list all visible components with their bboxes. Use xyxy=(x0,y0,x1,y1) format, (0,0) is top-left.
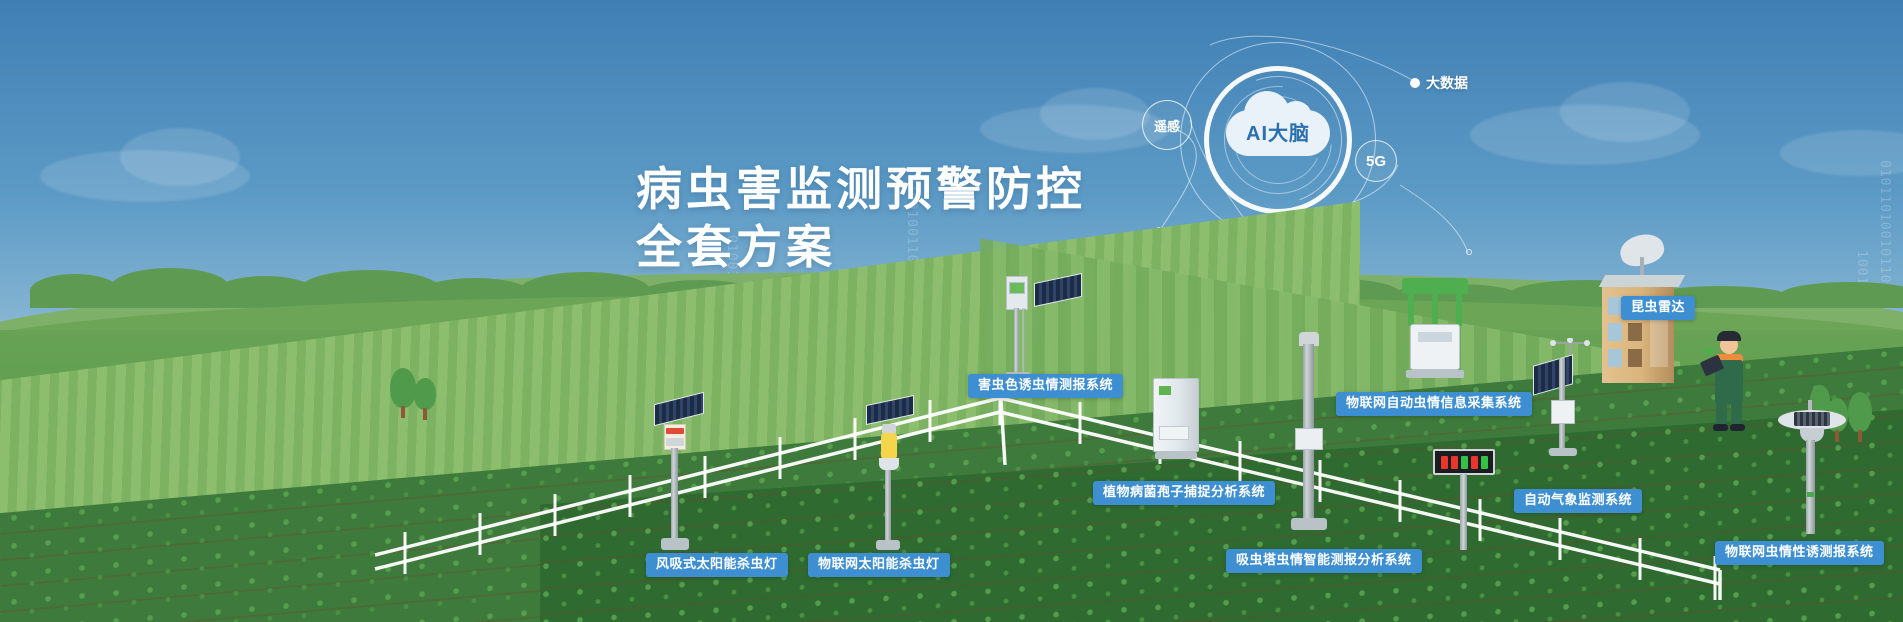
window xyxy=(1608,349,1622,367)
node-remote-sensing[interactable]: 遥感 xyxy=(1142,100,1192,150)
farmer-shoe xyxy=(1713,424,1728,431)
support-pole xyxy=(885,470,891,542)
led-board-pole xyxy=(1460,474,1467,550)
lamp-tube xyxy=(881,433,897,459)
wifi-signal-icon xyxy=(1700,340,1718,356)
label-spore-capture[interactable]: 植物病菌孢子捕捉分析系统 xyxy=(1093,481,1275,505)
ladder-rail xyxy=(1022,308,1025,374)
label-suction-tower[interactable]: 吸虫塔虫情智能测报分析系统 xyxy=(1226,549,1422,573)
device-base xyxy=(876,540,900,550)
access-door xyxy=(1159,426,1189,440)
label-insect-radar[interactable]: 昆虫雷达 xyxy=(1621,296,1695,320)
node-label-big-data: 大数据 xyxy=(1426,73,1468,93)
weather-control-box xyxy=(1551,400,1575,424)
canopy-leg xyxy=(1432,292,1438,326)
window xyxy=(1608,297,1622,315)
ai-brain-label: AI大脑 xyxy=(1226,117,1330,146)
led-segment xyxy=(1481,456,1488,469)
device-iot-solar-lamp xyxy=(862,400,918,558)
title-line-1: 病虫害监测预警防控 xyxy=(636,163,1086,215)
farmer-cap xyxy=(1717,331,1741,341)
fan-grille xyxy=(666,438,684,446)
radar-building xyxy=(1602,263,1700,383)
label-pest-color-trap[interactable]: 害虫色诱虫情测报系统 xyxy=(968,374,1123,398)
farmer-leg xyxy=(1731,402,1742,426)
tower-control-box xyxy=(1295,428,1323,450)
led-display-board xyxy=(1433,449,1495,475)
building-roof xyxy=(1599,275,1685,287)
infographic-banner: 010010011010110010100101 010010110010100… xyxy=(0,0,1903,622)
indicator-panel xyxy=(1009,282,1025,294)
status-led xyxy=(1807,492,1814,497)
device-wind-suction-lamp xyxy=(648,398,708,558)
device-base xyxy=(1291,518,1327,530)
led-segment xyxy=(1461,456,1468,469)
device-spore-capture xyxy=(1153,378,1211,470)
tree-icon xyxy=(414,378,436,420)
canopy-leg xyxy=(1408,292,1414,326)
support-pole xyxy=(671,448,678,540)
balcony xyxy=(1628,349,1642,367)
solar-panel-icon xyxy=(866,395,914,425)
led-segment xyxy=(1471,456,1478,469)
collector-cabinet xyxy=(1410,324,1460,370)
node-5g[interactable]: 5G xyxy=(1355,140,1397,182)
cloud-shape xyxy=(1040,88,1150,140)
device-auto-weather xyxy=(1533,338,1601,468)
device-base xyxy=(1549,448,1577,456)
status-light xyxy=(1159,386,1171,395)
cloud-shape xyxy=(120,128,240,186)
device-base xyxy=(1406,370,1464,378)
label-iot-solar-lamp[interactable]: 物联网太阳能杀虫灯 xyxy=(808,553,950,577)
radar-mast xyxy=(1640,257,1644,275)
tree-icon xyxy=(390,368,416,418)
vent-slot xyxy=(1418,332,1452,342)
window xyxy=(1608,323,1622,341)
trap-grille xyxy=(1794,412,1830,426)
cloud-shape xyxy=(1780,130,1903,176)
device-iot-pest-collect xyxy=(1398,278,1474,396)
label-wind-suction-lamp[interactable]: 风吸式太阳能杀虫灯 xyxy=(646,553,788,577)
tree-icon xyxy=(1848,392,1872,442)
led-segment xyxy=(1441,456,1448,469)
label-iot-pest-collect[interactable]: 物联网自动虫情信息采集系统 xyxy=(1336,392,1532,416)
device-pest-color-trap xyxy=(1000,272,1070,382)
solar-panel-icon xyxy=(1533,354,1573,395)
farmer-leg xyxy=(1716,402,1727,426)
support-pole xyxy=(1806,440,1815,534)
canopy-leg xyxy=(1456,292,1462,326)
balcony xyxy=(1628,323,1642,341)
label-iot-pheromone[interactable]: 物联网虫情性诱测报系统 xyxy=(1715,541,1884,565)
collection-cup xyxy=(879,458,899,470)
device-base xyxy=(661,538,689,550)
device-iot-pheromone xyxy=(1778,400,1848,550)
farmer-shoe xyxy=(1730,424,1745,431)
led-segment xyxy=(1451,456,1458,469)
device-suction-tower xyxy=(1285,332,1335,550)
endpoint-dot xyxy=(1466,249,1472,255)
farmer-figure xyxy=(1702,330,1762,430)
node-dot-big-data xyxy=(1410,78,1420,88)
device-base xyxy=(1155,452,1197,459)
support-pole xyxy=(1014,308,1019,374)
indicator-strip xyxy=(666,428,684,434)
label-auto-weather[interactable]: 自动气象监测系统 xyxy=(1514,489,1642,513)
